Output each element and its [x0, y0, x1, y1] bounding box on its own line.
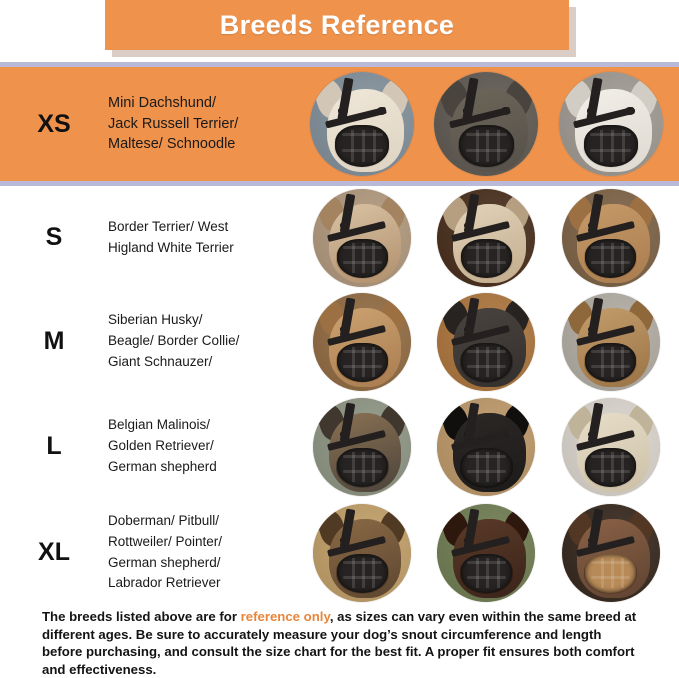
size-label-xs: XS: [0, 112, 108, 137]
size-label-xl: XL: [0, 540, 108, 565]
breed-line: Beagle/ Border Collie/: [108, 331, 294, 352]
breed-line: Mini Dachshund/: [108, 93, 294, 114]
breed-list: Mini Dachshund/Jack Russell Terrier/Malt…: [108, 93, 300, 155]
photo-xs-2: [434, 72, 538, 176]
photo-xs-1: [310, 72, 414, 176]
breed-line: Jack Russell Terrier/: [108, 114, 294, 135]
breed-line: Higland White Terrier: [108, 238, 294, 259]
breed-line: Labrador Retriever: [108, 573, 294, 594]
breed-line: Border Terrier/ West: [108, 217, 294, 238]
page-title: Breeds Reference: [220, 10, 454, 41]
breed-line: Rottweiler/ Pointer/: [108, 532, 294, 553]
photo-s-3: [562, 189, 660, 287]
photo-m-3: [562, 293, 660, 391]
photo-group: [300, 185, 679, 291]
photo-m-1: [313, 293, 411, 391]
photo-m-2: [437, 293, 535, 391]
breed-line: Maltese/ Schnoodle: [108, 134, 294, 155]
photo-xl-2: [437, 504, 535, 602]
table-row: SBorder Terrier/ WestHigland White Terri…: [0, 186, 679, 289]
size-label-s: S: [0, 225, 108, 250]
photo-l-3: [562, 398, 660, 496]
photo-s-1: [313, 189, 411, 287]
breed-list: Belgian Malinois/Golden Retriever/German…: [108, 415, 300, 478]
breed-line: Siberian Husky/: [108, 310, 294, 331]
table-row: XLDoberman/ Pitbull/Rottweiler/ Pointer/…: [0, 499, 679, 606]
breed-list: Siberian Husky/Beagle/ Border Collie/Gia…: [108, 310, 300, 373]
breed-list: Doberman/ Pitbull/Rottweiler/ Pointer/Ge…: [108, 511, 300, 595]
table-row: LBelgian Malinois/Golden Retriever/Germa…: [0, 394, 679, 499]
breeds-table: XSMini Dachshund/Jack Russell Terrier/Ma…: [0, 62, 679, 606]
photo-l-1: [313, 398, 411, 496]
photo-xl-3: [562, 504, 660, 602]
breed-line: Belgian Malinois/: [108, 415, 294, 436]
size-label-l: L: [0, 434, 108, 459]
breed-list: Border Terrier/ WestHigland White Terrie…: [108, 217, 300, 259]
table-row: XSMini Dachshund/Jack Russell Terrier/Ma…: [0, 62, 679, 186]
breed-line: Doberman/ Pitbull/: [108, 511, 294, 532]
header-banner: Breeds Reference: [105, 0, 569, 50]
breed-line: Golden Retriever/: [108, 436, 294, 457]
photo-group: [300, 394, 679, 500]
footer-note: The breeds listed above are for referenc…: [42, 608, 642, 678]
footer-accent-text: reference only: [241, 609, 330, 624]
header: Breeds Reference: [0, 0, 679, 62]
photo-group: [300, 68, 679, 180]
photo-xl-1: [313, 504, 411, 602]
breed-line: German shepherd: [108, 457, 294, 478]
size-label-m: M: [0, 329, 108, 354]
photo-s-2: [437, 189, 535, 287]
table-row: MSiberian Husky/Beagle/ Border Collie/Gi…: [0, 289, 679, 394]
photo-l-2: [437, 398, 535, 496]
breed-line: Giant Schnauzer/: [108, 352, 294, 373]
photo-xs-3: [559, 72, 663, 176]
photo-group: [300, 500, 679, 606]
photo-group: [300, 289, 679, 395]
footer-text-part1: The breeds listed above are for: [42, 609, 241, 624]
breed-line: German shepherd/: [108, 553, 294, 574]
